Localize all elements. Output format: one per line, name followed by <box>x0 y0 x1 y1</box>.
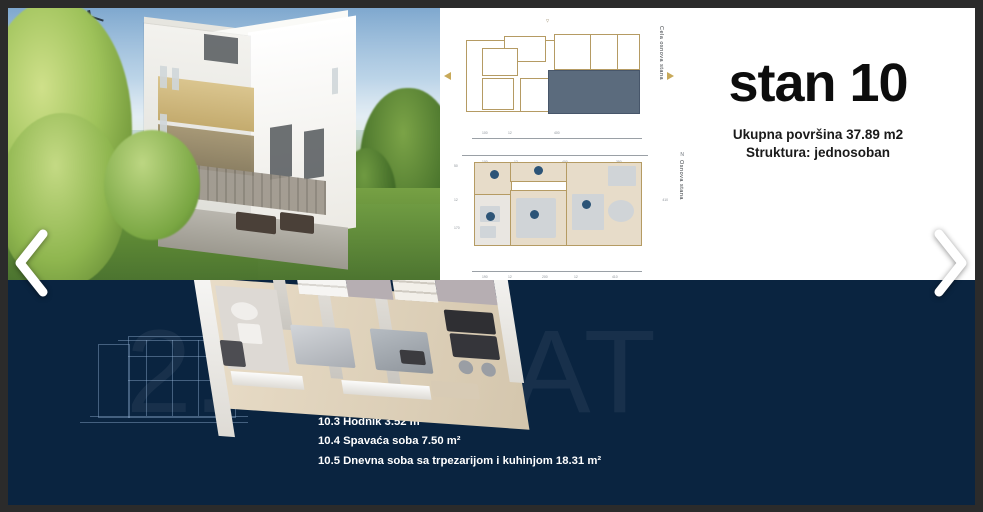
room-predprostor <box>474 162 512 196</box>
window-front-1 <box>160 66 167 89</box>
lower-dim-l1: 50 <box>454 164 458 168</box>
plan-compass-top: ▽ <box>546 18 549 23</box>
page-title: stan 10 <box>668 56 968 110</box>
lower-dim-b4: 12 <box>574 275 578 279</box>
building-exterior-render[interactable] <box>8 8 440 280</box>
room-marker-4 <box>530 210 539 219</box>
elev-left-wing <box>98 344 130 418</box>
render-bath-cabinet <box>220 340 247 367</box>
lower-dim-b5: 410 <box>612 275 618 279</box>
window-front-2 <box>172 68 179 91</box>
floorplan-panel: Cela osnova stana ▽ N 100 12 400 350 <box>440 8 975 280</box>
prev-image-button[interactable] <box>10 226 56 300</box>
window-top <box>204 34 238 64</box>
render-kitchen-counter <box>444 309 497 334</box>
lower-dim-r1: 410 <box>662 198 668 202</box>
whole-floor-plan[interactable]: Cela osnova stana ▽ N 100 12 400 350 <box>458 14 658 140</box>
render-closet <box>388 280 439 303</box>
listing-title-block: stan 10 Ukupna površina 37.89 m2 Struktu… <box>668 56 968 162</box>
room-marker-2 <box>486 212 495 221</box>
lower-dim-b1: 190 <box>482 275 488 279</box>
window-side-1 <box>270 124 292 179</box>
elev-col-2 <box>172 340 173 416</box>
lower-dim-b3: 200 <box>542 275 548 279</box>
room-marker-1 <box>490 170 499 179</box>
highlighted-unit[interactable] <box>548 70 640 114</box>
kitchen-counter <box>608 166 636 186</box>
apartment-floor-plan[interactable]: Osnova stana 100 12 400 190 12 200 12 41… <box>468 150 650 260</box>
render-dining-table <box>449 333 500 360</box>
bath-fixture-2 <box>480 226 496 238</box>
lower-dim-l2: 12 <box>454 198 458 202</box>
plan-room-b <box>482 48 518 76</box>
room-marker-3 <box>534 166 543 175</box>
next-image-button[interactable] <box>926 226 972 300</box>
plan-arrow-left-icon <box>444 72 451 80</box>
tree-mid-1 <box>104 130 200 240</box>
top-media-row: Cela osnova stana ▽ N 100 12 400 350 <box>8 8 975 280</box>
plan-lower-dim-bottom <box>472 271 642 272</box>
plan-room-c <box>482 78 514 110</box>
total-area-label: Ukupna površina 37.89 m2 <box>668 126 968 144</box>
elev-col-1 <box>146 340 147 416</box>
plan-lower-label: Osnova stana <box>678 160 684 200</box>
plan-room-a <box>590 34 618 70</box>
chevron-right-icon <box>939 234 962 292</box>
lower-dim-t1: 100 <box>482 131 488 135</box>
structure-label: Struktura: jednosoban <box>668 144 968 162</box>
window-side-3 <box>332 68 338 95</box>
lower-dim-b2: 12 <box>508 275 512 279</box>
room-marker-5 <box>582 200 591 209</box>
lower-dim-t2: 12 <box>508 131 512 135</box>
plan-lower-dim-top <box>472 138 642 139</box>
details-panel: 2. SPRAT Površine prostorija 10.1 Predpr… <box>8 280 975 505</box>
dining-table <box>608 200 634 222</box>
lower-dim-t3: 400 <box>554 131 560 135</box>
apartment-3d-render[interactable] <box>186 280 566 488</box>
property-gallery-viewer: Cela osnova stana ▽ N 100 12 400 350 <box>8 8 975 505</box>
render-bed <box>290 325 356 369</box>
render-coffee-table <box>399 350 426 366</box>
window-side-2 <box>304 128 324 179</box>
chevron-left-icon <box>20 234 43 292</box>
plan-upper-label: Cela osnova stana <box>658 26 664 80</box>
lower-dim-l3: 170 <box>454 226 460 230</box>
